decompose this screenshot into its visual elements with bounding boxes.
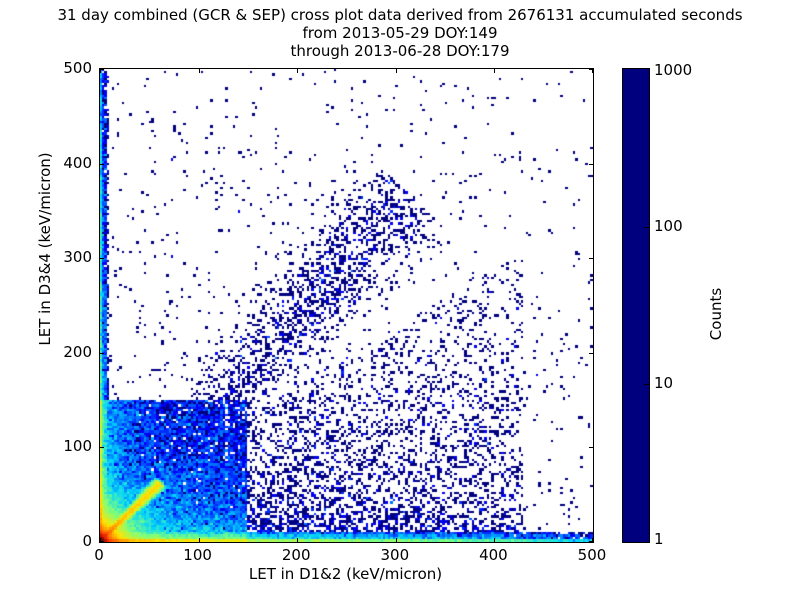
y-tick-mark [100,258,104,259]
x-tick-label: 100 [183,546,212,564]
x-tick-mark-top [199,69,200,73]
y-tick-label: 0 [40,532,92,550]
y-tick-label: 500 [40,59,92,77]
y-tick-mark-right [589,353,593,354]
y-tick-label: 400 [40,154,92,172]
plot-area [99,68,594,543]
colorbar [622,68,650,543]
y-tick-mark [100,353,104,354]
title-line-1: 31 day combined (GCR & SEP) cross plot d… [0,6,800,24]
x-tick-mark-top [297,69,298,73]
y-tick-mark [100,447,104,448]
colorbar-tick-label: 10 [654,374,673,392]
y-tick-label: 100 [40,437,92,455]
figure-canvas: 31 day combined (GCR & SEP) cross plot d… [0,0,800,600]
colorbar-gradient [623,69,649,542]
y-tick-mark-right [589,164,593,165]
y-tick-mark-right [589,258,593,259]
x-tick-mark [199,538,200,542]
x-tick-mark-top [396,69,397,73]
x-tick-label: 500 [578,546,607,564]
x-tick-label: 300 [380,546,409,564]
density-heatmap [100,69,593,542]
y-tick-label: 200 [40,343,92,361]
plot-title: 31 day combined (GCR & SEP) cross plot d… [0,6,800,60]
x-tick-mark [396,538,397,542]
x-tick-label: 200 [282,546,311,564]
y-tick-mark-right [589,69,593,70]
colorbar-tick-mark [644,227,649,228]
colorbar-title: Counts [707,214,725,414]
x-tick-label: 400 [479,546,508,564]
y-tick-label: 300 [40,248,92,266]
y-tick-mark [100,541,104,542]
colorbar-tick-label: 1000 [654,61,692,79]
y-tick-mark [100,164,104,165]
x-axis-label: LET in D1&2 (keV/micron) [99,565,592,583]
x-tick-label: 0 [94,546,104,564]
y-tick-mark-right [589,541,593,542]
colorbar-tick-label: 100 [654,217,683,235]
x-tick-mark-top [494,69,495,73]
x-tick-mark [494,538,495,542]
colorbar-tick-mark [644,384,649,385]
title-line-2: from 2013-05-29 DOY:149 [0,24,800,42]
x-tick-mark [297,538,298,542]
title-line-3: through 2013-06-28 DOY:179 [0,42,800,60]
y-tick-mark-right [589,447,593,448]
colorbar-tick-label: 1 [654,530,664,548]
y-tick-mark [100,69,104,70]
